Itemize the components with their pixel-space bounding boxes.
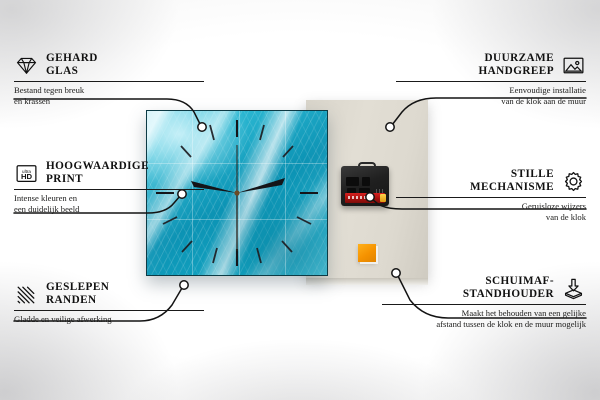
bevelled-edge-icon: [14, 282, 39, 307]
feature-desc-line1: Gladde en veilige afwerking: [14, 314, 112, 324]
feature-title-line2: HANDGREEP: [478, 65, 554, 77]
feature-desc-line2: van de klok: [546, 212, 586, 222]
feature-gehard-glas[interactable]: GEHARD GLAS Bestand tegen breuk en krass…: [14, 52, 204, 106]
picture-frame-icon: [561, 53, 586, 78]
feature-divider: [14, 81, 204, 82]
feature-title-line2: STANDHOUDER: [463, 288, 554, 300]
feature-title-line1: GESLEPEN: [46, 281, 109, 293]
feature-divider: [382, 304, 586, 305]
feature-divider: [396, 197, 586, 198]
press-down-pad-icon: [561, 276, 586, 301]
feature-title-line1: DUURZAME: [485, 52, 554, 64]
corner-vignette-bottom-middle: [120, 340, 480, 400]
feature-divider: [14, 310, 204, 311]
ultra-hd-icon: ultra HD: [14, 161, 39, 186]
feature-divider: [14, 189, 204, 190]
feature-desc-line1: Maakt het behouden van een gelijke: [462, 308, 586, 318]
infographic-canvas: GEHARD GLAS Bestand tegen breuk en krass…: [0, 0, 600, 400]
svg-text:HD: HD: [21, 172, 33, 181]
feature-divider: [396, 81, 586, 82]
feature-title-line1: GEHARD: [46, 52, 98, 64]
clock-movement-mechanism: [341, 162, 389, 206]
feature-geslepen-randen[interactable]: GESLEPEN RANDEN Gladde en veilige afwerk…: [14, 281, 204, 325]
feature-duurzame-handgreep[interactable]: DUURZAME HANDGREEP Eenvoudige installati…: [396, 52, 586, 106]
feature-desc-line2: en krassen: [14, 96, 50, 106]
feature-title-line2: PRINT: [46, 173, 83, 185]
battery: [345, 193, 385, 203]
feature-desc-line2: een duidelijk beeld: [14, 204, 79, 214]
feature-schuimafstandhouder[interactable]: SCHUIMAF- STANDHOUDER Maakt het behouden…: [382, 275, 586, 329]
feature-title-line1: STILLE: [511, 168, 554, 180]
feature-desc-line1: Geruisloze wijzers: [522, 201, 586, 211]
feature-title-line2: RANDEN: [46, 294, 97, 306]
feature-desc-line1: Intense kleuren en: [14, 193, 77, 203]
feature-title-line2: GLAS: [46, 65, 78, 77]
feature-desc-line1: Eenvoudige installatie: [509, 85, 586, 95]
feature-title-line1: HOOGWAARDIGE: [46, 160, 149, 172]
feature-stille-mechanisme[interactable]: STILLE MECHANISME Geruisloze wijzers van…: [396, 168, 586, 222]
feature-title-line2: MECHANISME: [470, 181, 554, 193]
clock-hands: [191, 145, 285, 251]
feature-title-line1: SCHUIMAF-: [485, 275, 554, 287]
feature-desc-line2: van de klok aan de muur: [501, 96, 586, 106]
feature-hoogwaardige-print[interactable]: ultra HD HOOGWAARDIGE PRINT Intense kleu…: [14, 160, 204, 214]
foam-spacer-block: [358, 244, 376, 262]
feature-desc-line1: Bestand tegen breuk: [14, 85, 84, 95]
feature-desc-line2: afstand tussen de klok en de muur mogeli…: [436, 319, 586, 329]
diamond-icon: [14, 53, 39, 78]
gear-icon: [561, 169, 586, 194]
